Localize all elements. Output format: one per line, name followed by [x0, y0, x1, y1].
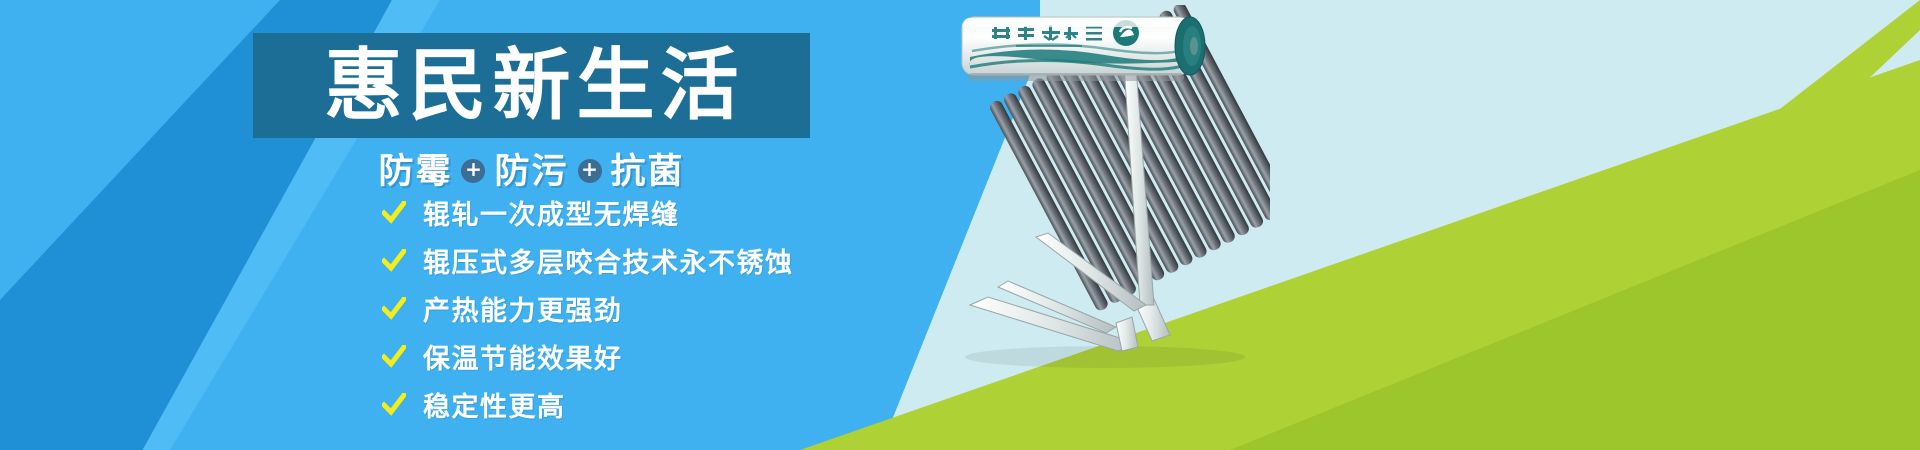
plus-badge-icon-2: +: [578, 159, 602, 183]
feature-label-1: 辊轧一次成型无焊缝: [423, 193, 680, 232]
plus-badge-icon: +: [461, 159, 485, 183]
check-icon: [382, 297, 406, 321]
subtitle-word-3: 抗菌: [611, 143, 685, 194]
list-item: 产热能力更强劲: [382, 289, 794, 328]
list-item: 保温节能效果好: [382, 337, 794, 376]
water-tank: [959, 17, 1205, 75]
tube-header-strip: [968, 73, 1184, 81]
feature-label-3: 产热能力更强劲: [423, 289, 623, 328]
product-solar-water-heater: [940, 5, 1270, 375]
feature-list: 辊轧一次成型无焊缝 辊压式多层咬合技术永不锈蚀 产热能力更强劲 保温节能效果好: [382, 193, 794, 424]
solar-heater-illustration: [940, 5, 1270, 375]
subtitle-word-2: 防污: [494, 143, 568, 194]
feature-label-4: 保温节能效果好: [423, 337, 623, 376]
list-item: 稳定性更高: [382, 385, 794, 424]
list-item: 辊轧一次成型无焊缝: [382, 193, 794, 232]
banner-subtitle: 防霉 + 防污 + 抗菌: [253, 143, 810, 194]
check-icon: [382, 249, 406, 273]
banner-content: 惠民新生活 防霉 + 防污 + 抗菌 辊轧一次成型无焊缝: [0, 0, 1000, 450]
check-icon: [382, 345, 406, 369]
feature-label-2: 辊压式多层咬合技术永不锈蚀: [423, 241, 794, 280]
promo-banner: 惠民新生活 防霉 + 防污 + 抗菌 辊轧一次成型无焊缝: [0, 0, 1920, 450]
subtitle-word-1: 防霉: [378, 143, 452, 194]
feature-label-5: 稳定性更高: [423, 385, 566, 424]
plus-symbol-2: +: [581, 159, 598, 179]
check-icon: [382, 201, 406, 225]
title-band: 惠民新生活: [253, 33, 810, 138]
check-icon: [382, 393, 406, 417]
plus-symbol: +: [465, 159, 482, 179]
banner-title: 惠民新生活: [318, 47, 744, 125]
product-shadow: [965, 346, 1245, 368]
list-item: 辊压式多层咬合技术永不锈蚀: [382, 241, 794, 280]
